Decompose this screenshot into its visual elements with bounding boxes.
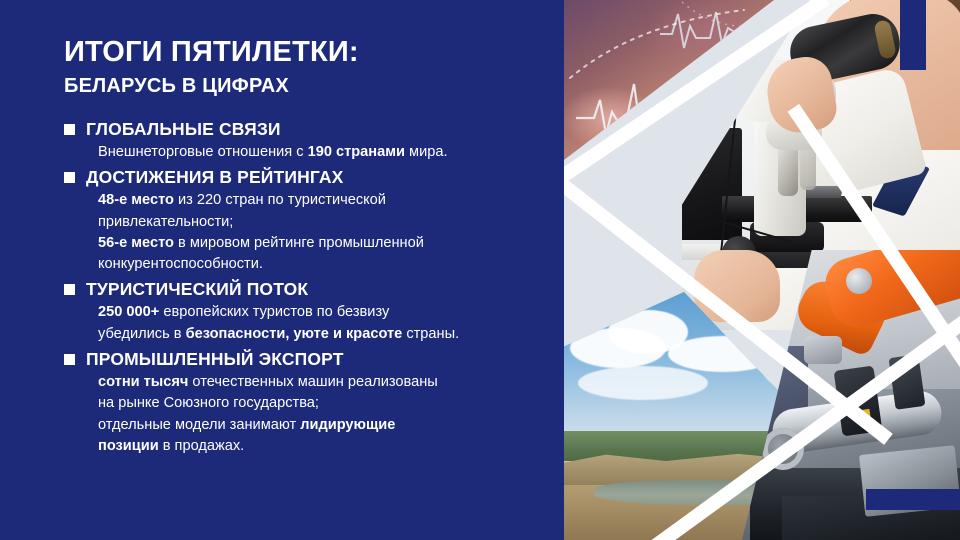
line-span: отдельные модели занимают (98, 417, 300, 433)
cloud (668, 336, 778, 372)
bullet-heading-row: ДОСТИЖЕНИЯ В РЕЙТИНГАХ (64, 166, 542, 188)
cloud (578, 366, 708, 400)
metal-tube-end (762, 428, 804, 470)
bullet-line: позиции в продажах. (98, 436, 542, 457)
bullet-heading-row: ПРОМЫШЛЕННЫЙ ЭКСПОРТ (64, 348, 542, 370)
line-span: привлекательности; (98, 214, 233, 230)
line-span: европейских туристов по безвизу (159, 304, 389, 320)
bullet-group-tourism: ТУРИСТИЧЕСКИЙ ПОТОК 250 000+ европейских… (64, 278, 542, 345)
accent-bar-bottom-right (866, 489, 960, 510)
bullet-group-industrial-export: ПРОМЫШЛЕННЫЙ ЭКСПОРТ сотни тысяч отечест… (64, 348, 542, 457)
bullet-heading-row: ГЛОБАЛЬНЫЕ СВЯЗИ (64, 118, 542, 140)
line-span: мира. (405, 144, 448, 160)
line-span-bold: 48-е место (98, 192, 174, 208)
line-span-bold: лидирующие (300, 417, 395, 433)
bullet-body: 250 000+ европейских туристов по безвизу… (98, 302, 542, 345)
line-span: страны. (402, 326, 459, 342)
line-span-bold: сотни тысяч (98, 374, 188, 390)
line-span: на рынке Союзного государства; (98, 395, 319, 411)
line-span-bold: позиции (98, 438, 159, 454)
line-span: в мировом рейтинге промышленной (174, 235, 424, 251)
bullet-heading: ГЛОБАЛЬНЫЕ СВЯЗИ (86, 119, 281, 139)
line-span-bold: 56-е место (98, 235, 174, 251)
title-block: ИТОГИ ПЯТИЛЕТКИ: БЕЛАРУСЬ В ЦИФРАХ (64, 36, 534, 98)
scientist-hand-lower (694, 250, 780, 322)
line-span: конкурентоспособности. (98, 256, 263, 272)
bullet-line: отдельные модели занимают лидирующие (98, 415, 542, 436)
accent-bar-top-right (900, 0, 926, 70)
bullet-body: Внешнеторговые отношения с 190 странами … (98, 142, 542, 163)
bullet-heading: ДОСТИЖЕНИЯ В РЕЙТИНГАХ (86, 167, 343, 187)
line-span: убедились в (98, 326, 186, 342)
bullet-group-ratings: ДОСТИЖЕНИЯ В РЕЙТИНГАХ 48-е место из 220… (64, 166, 542, 275)
bullet-heading: ПРОМЫШЛЕННЫЙ ЭКСПОРТ (86, 349, 344, 369)
line-span-bold: 190 странами (308, 144, 405, 160)
bullet-line: убедились в безопасности, уюте и красоте… (98, 324, 542, 345)
line-span-bold: 250 000+ (98, 304, 159, 320)
bullet-line: привлекательности; (98, 212, 542, 233)
slide-title-main: ИТОГИ ПЯТИЛЕТКИ: (64, 36, 534, 68)
bullet-line: конкурентоспособности. (98, 254, 542, 275)
slide-title-sub: БЕЛАРУСЬ В ЦИФРАХ (64, 74, 534, 98)
square-bullet-icon (64, 284, 75, 295)
bullet-line: Внешнеторговые отношения с 190 странами … (98, 142, 542, 163)
line-span: отечественных машин реализованы (188, 374, 437, 390)
robot-gripper (804, 336, 842, 364)
line-span: Внешнеторговые отношения с (98, 144, 308, 160)
bullet-line: 48-е место из 220 стран по туристической (98, 190, 542, 211)
bullet-heading-row: ТУРИСТИЧЕСКИЙ ПОТОК (64, 278, 542, 300)
bullet-body: 48-е место из 220 стран по туристической… (98, 190, 542, 275)
line-span-bold: безопасности, уюте и красоте (186, 326, 403, 342)
bullet-line: 250 000+ европейских туристов по безвизу (98, 302, 542, 323)
line-span: в продажах. (159, 438, 245, 454)
robot-joint (846, 268, 872, 294)
text-panel: ИТОГИ ПЯТИЛЕТКИ: БЕЛАРУСЬ В ЦИФРАХ ГЛОБА… (0, 0, 564, 540)
bullet-group-global-ties: ГЛОБАЛЬНЫЕ СВЯЗИ Внешнеторговые отношени… (64, 118, 542, 163)
presentation-slide: ИТОГИ ПЯТИЛЕТКИ: БЕЛАРУСЬ В ЦИФРАХ ГЛОБА… (0, 0, 960, 540)
bullet-line: сотни тысяч отечественных машин реализов… (98, 372, 542, 393)
bullet-line: 56-е место в мировом рейтинге промышленн… (98, 233, 542, 254)
square-bullet-icon (64, 124, 75, 135)
bullet-line: на рынке Союзного государства; (98, 393, 542, 414)
bullet-body: сотни тысяч отечественных машин реализов… (98, 372, 542, 457)
image-collage (564, 0, 960, 540)
bullet-heading: ТУРИСТИЧЕСКИЙ ПОТОК (86, 279, 308, 299)
microscope-objective-secondary (800, 146, 816, 190)
square-bullet-icon (64, 172, 75, 183)
square-bullet-icon (64, 354, 75, 365)
line-span: из 220 стран по туристической (174, 192, 386, 208)
bullet-list: ГЛОБАЛЬНЫЕ СВЯЗИ Внешнеторговые отношени… (64, 118, 542, 458)
